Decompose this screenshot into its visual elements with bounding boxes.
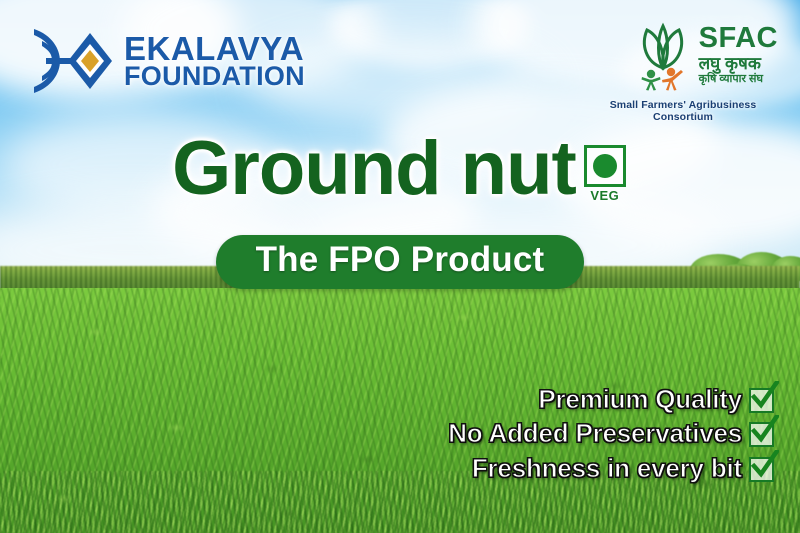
ekalavya-name-line1: EKALAVYA [124,33,305,64]
product-title: Ground nut [172,131,576,207]
sfac-logo-top: SFAC लघु कृषक कृषि व्यापार संघ [588,22,778,94]
veg-symbol-icon [584,145,626,187]
fpo-badge-row: The FPO Product [0,235,800,289]
sfac-leaves-and-farmers-icon [631,22,695,94]
checkbox-checked-icon [749,455,776,482]
checkbox-checked-icon [749,386,776,413]
feature-list: Premium Quality No Added Preservatives F… [448,386,776,482]
ekalavya-emblem-icon [30,25,114,97]
sfac-name: SFAC [699,24,778,53]
ekalavya-name-line2: FOUNDATION [124,64,305,90]
veg-mark: VEG [582,145,628,203]
sfac-tagline: Small Farmers' Agribusiness Consortium [588,99,778,123]
feature-label: Premium Quality [538,386,742,413]
fpo-product-badge-label: The FPO Product [256,242,545,279]
feature-item: No Added Preservatives [448,420,776,447]
fpo-product-badge: The FPO Product [216,235,585,289]
feature-label: Freshness in every bit [472,455,742,482]
sfac-wordmark: SFAC लघु कृषक कृषि व्यापार संघ [699,22,778,85]
feature-item: Premium Quality [538,386,776,413]
product-poster: EKALAVYA FOUNDATION [0,0,800,533]
feature-item: Freshness in every bit [472,455,776,482]
product-title-row: Ground nut VEG [0,131,800,207]
sfac-hindi-line1: लघु कृषक [699,55,778,72]
sfac-hindi-line2: कृषि व्यापार संघ [699,74,778,85]
ekalavya-foundation-logo[interactable]: EKALAVYA FOUNDATION [30,25,305,97]
sfac-logo[interactable]: SFAC लघु कृषक कृषि व्यापार संघ Small Far… [588,22,778,123]
veg-label: VEG [582,188,628,203]
ekalavya-wordmark: EKALAVYA FOUNDATION [124,33,305,90]
checkbox-checked-icon [749,420,776,447]
feature-label: No Added Preservatives [448,420,742,447]
